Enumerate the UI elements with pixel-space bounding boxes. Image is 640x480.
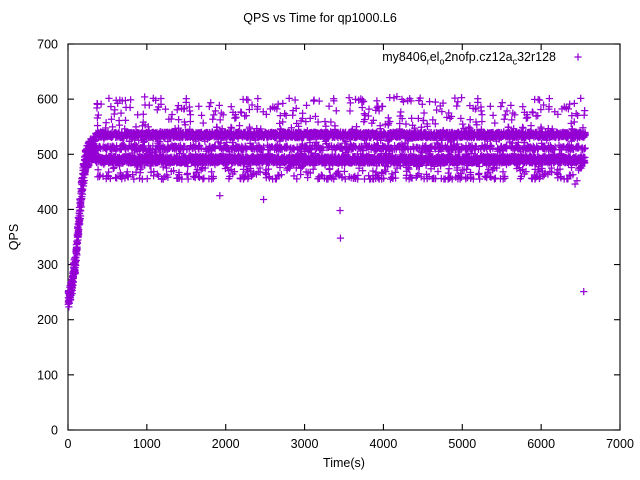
x-tick-label: 1000 [133, 437, 161, 451]
y-tick-label: 0 [51, 424, 58, 438]
x-tick-label: 2000 [212, 437, 240, 451]
x-tick-label: 4000 [370, 437, 398, 451]
x-tick-label: 6000 [527, 437, 555, 451]
y-tick-label: 100 [37, 368, 58, 382]
y-tick-label: 300 [37, 258, 58, 272]
chart-container: QPS vs Time for qp1000.L6 01002003004005… [0, 0, 640, 480]
y-tick-label: 200 [37, 313, 58, 327]
chart-title: QPS vs Time for qp1000.L6 [243, 11, 397, 25]
x-tick-label: 3000 [291, 437, 319, 451]
canvas-background [0, 0, 640, 480]
x-tick-label: 7000 [606, 437, 634, 451]
x-tick-label: 0 [65, 437, 72, 451]
y-tick-label: 400 [37, 203, 58, 217]
y-tick-label: 600 [37, 93, 58, 107]
y-tick-label: 500 [37, 148, 58, 162]
y-tick-label: 700 [37, 38, 58, 52]
x-tick-label: 5000 [448, 437, 476, 451]
qps-vs-time-scatter-plot: QPS vs Time for qp1000.L6 01002003004005… [0, 0, 640, 480]
